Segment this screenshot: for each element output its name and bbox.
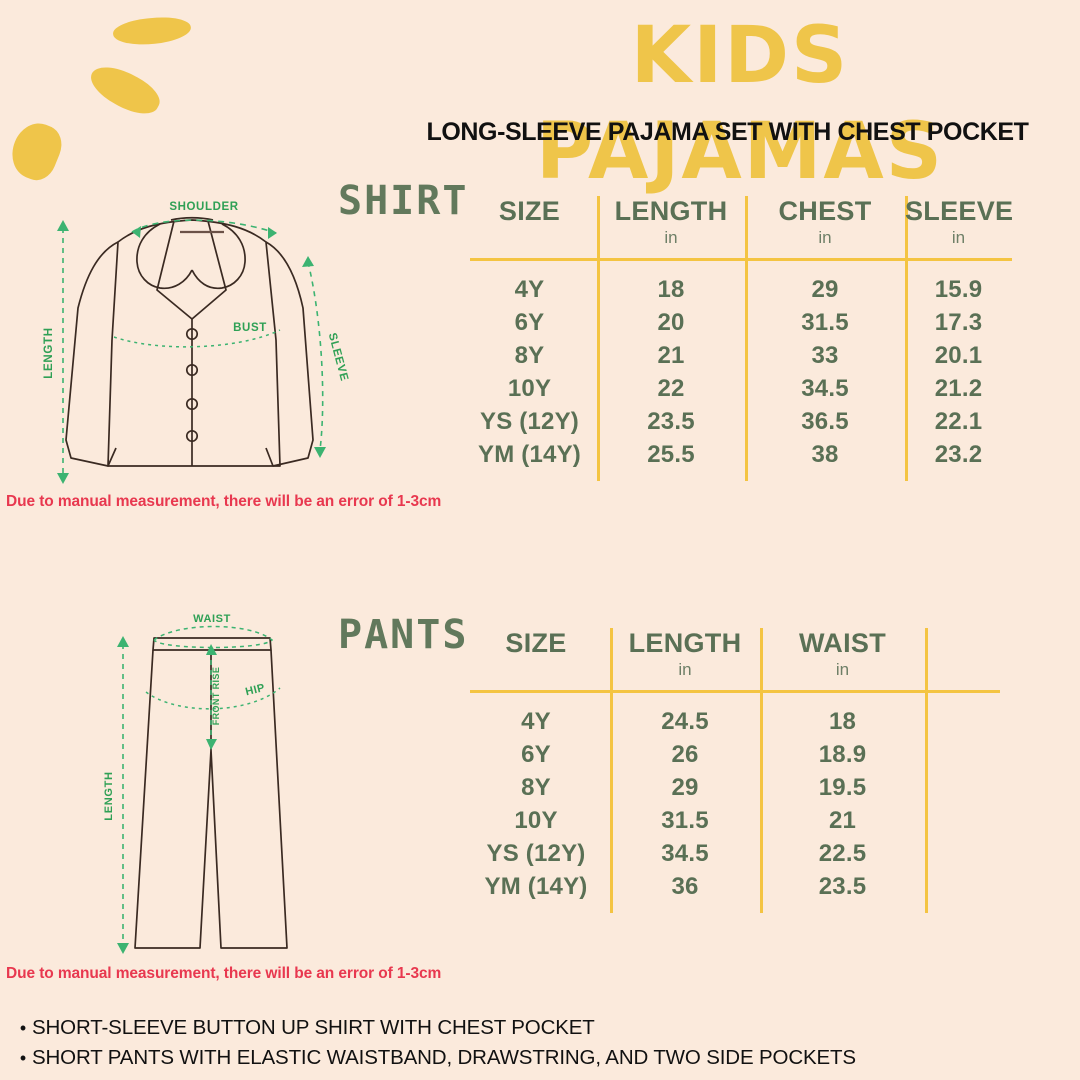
decorative-blob-icon — [84, 58, 165, 123]
table-row: 4Y 24.5 18 — [462, 706, 1012, 738]
shirt-col-header-chest: CHEST — [745, 196, 905, 226]
page-title: KIDS PAJAMAS — [420, 8, 1060, 200]
cell-length: 36 — [610, 871, 760, 903]
shirt-label-shoulder: SHOULDER — [169, 201, 238, 213]
table-row: 8Y 21 33 20.1 — [462, 340, 1012, 372]
cell-size: 10Y — [462, 373, 597, 405]
bullet-dot-icon: • — [14, 1043, 32, 1073]
shirt-col-header-sleeve: SLEEVE — [905, 196, 1012, 226]
cell-size: YM (14Y) — [462, 439, 597, 471]
table-row: 10Y 22 34.5 21.2 — [462, 373, 1012, 405]
pants-label-waist: WAIST — [193, 613, 231, 625]
cell-chest: 36.5 — [745, 406, 905, 438]
pants-col-unit-length: in — [610, 658, 760, 682]
cell-length: 22 — [597, 373, 745, 405]
cell-extra — [925, 871, 1012, 903]
table-row: YS (12Y) 34.5 22.5 — [462, 838, 1012, 870]
list-item: • SHORT PANTS WITH ELASTIC WAISTBAND, DR… — [14, 1043, 1014, 1073]
cell-length: 26 — [610, 739, 760, 771]
table-row: 8Y 29 19.5 — [462, 772, 1012, 804]
feature-list: • SHORT-SLEEVE BUTTON UP SHIRT WITH CHES… — [14, 1013, 1014, 1073]
list-item: • SHORT-SLEEVE BUTTON UP SHIRT WITH CHES… — [14, 1013, 1014, 1043]
pants-measurement-disclaimer: Due to manual measurement, there will be… — [6, 965, 441, 983]
cell-chest: 31.5 — [745, 307, 905, 339]
cell-extra — [925, 739, 1012, 771]
decorative-blob-icon — [4, 116, 68, 185]
cell-length: 34.5 — [610, 838, 760, 870]
cell-size: 6Y — [462, 739, 610, 771]
pants-table-header-row: SIZE LENGTH in WAIST in — [462, 628, 1012, 682]
shirt-col-unit-chest: in — [745, 226, 905, 250]
cell-length: 29 — [610, 772, 760, 804]
cell-size: YM (14Y) — [462, 871, 610, 903]
cell-length: 20 — [597, 307, 745, 339]
cell-chest: 33 — [745, 340, 905, 372]
pants-label-front-rise: FRONT RISE — [211, 667, 221, 726]
pants-col-header-waist: WAIST — [760, 628, 925, 658]
shirt-measurement-disclaimer: Due to manual measurement, there will be… — [6, 493, 441, 511]
cell-chest: 34.5 — [745, 373, 905, 405]
decorative-blob-icon — [112, 14, 192, 48]
cell-waist: 18 — [760, 706, 925, 738]
shirt-size-table: SIZE LENGTH in CHEST in SLEEVE in 4Y 18 … — [462, 196, 1012, 481]
cell-chest: 38 — [745, 439, 905, 471]
shirt-col-header-length: LENGTH — [597, 196, 745, 226]
cell-sleeve: 21.2 — [905, 373, 1012, 405]
pants-measurement-diagram: WAIST HIP FRONT RISE LENGTH — [78, 600, 378, 960]
cell-size: 8Y — [462, 340, 597, 372]
cell-size: YS (12Y) — [462, 838, 610, 870]
cell-length: 21 — [597, 340, 745, 372]
table-row: 6Y 26 18.9 — [462, 739, 1012, 771]
cell-waist: 18.9 — [760, 739, 925, 771]
cell-waist: 23.5 — [760, 871, 925, 903]
feature-text: SHORT-SLEEVE BUTTON UP SHIRT WITH CHEST … — [32, 1013, 595, 1043]
cell-length: 25.5 — [597, 439, 745, 471]
cell-size: 8Y — [462, 772, 610, 804]
cell-sleeve: 15.9 — [905, 274, 1012, 306]
table-row: YS (12Y) 23.5 36.5 22.1 — [462, 406, 1012, 438]
shirt-label-length: LENGTH — [43, 327, 55, 378]
pants-label-hip: HIP — [244, 682, 266, 698]
cell-size: 4Y — [462, 274, 597, 306]
cell-waist: 21 — [760, 805, 925, 837]
page-subtitle: LONG-SLEEVE PAJAMA SET WITH CHEST POCKET — [405, 118, 1050, 147]
cell-extra — [925, 838, 1012, 870]
cell-size: YS (12Y) — [462, 406, 597, 438]
cell-extra — [925, 772, 1012, 804]
shirt-measurement-diagram: SHOULDER BUST LENGTH SLEEVE — [8, 190, 368, 490]
cell-length: 23.5 — [597, 406, 745, 438]
pants-col-unit-waist: in — [760, 658, 925, 682]
cell-extra — [925, 706, 1012, 738]
cell-sleeve: 23.2 — [905, 439, 1012, 471]
cell-extra — [925, 805, 1012, 837]
cell-waist: 22.5 — [760, 838, 925, 870]
cell-length: 31.5 — [610, 805, 760, 837]
table-row: YM (14Y) 25.5 38 23.2 — [462, 439, 1012, 471]
table-row: 6Y 20 31.5 17.3 — [462, 307, 1012, 339]
cell-sleeve: 22.1 — [905, 406, 1012, 438]
shirt-table-header-row: SIZE LENGTH in CHEST in SLEEVE in — [462, 196, 1012, 250]
cell-chest: 29 — [745, 274, 905, 306]
feature-text: SHORT PANTS WITH ELASTIC WAISTBAND, DRAW… — [32, 1043, 856, 1073]
cell-length: 18 — [597, 274, 745, 306]
shirt-label-bust: BUST — [233, 322, 267, 334]
cell-size: 10Y — [462, 805, 610, 837]
pants-col-header-size: SIZE — [462, 628, 610, 658]
cell-sleeve: 20.1 — [905, 340, 1012, 372]
shirt-col-unit-length: in — [597, 226, 745, 250]
shirt-col-header-size: SIZE — [462, 196, 597, 226]
cell-size: 4Y — [462, 706, 610, 738]
pants-label-length: LENGTH — [103, 771, 115, 820]
shirt-label-sleeve: SLEEVE — [326, 332, 350, 383]
pants-col-header-length: LENGTH — [610, 628, 760, 658]
cell-size: 6Y — [462, 307, 597, 339]
table-row: 10Y 31.5 21 — [462, 805, 1012, 837]
shirt-col-unit-sleeve: in — [905, 226, 1012, 250]
pants-size-table: SIZE LENGTH in WAIST in 4Y 24.5 18 6Y — [462, 628, 1012, 913]
cell-sleeve: 17.3 — [905, 307, 1012, 339]
table-row: YM (14Y) 36 23.5 — [462, 871, 1012, 903]
bullet-dot-icon: • — [14, 1013, 32, 1043]
cell-waist: 19.5 — [760, 772, 925, 804]
cell-length: 24.5 — [610, 706, 760, 738]
table-row: 4Y 18 29 15.9 — [462, 274, 1012, 306]
size-chart-page: KIDS PAJAMAS LONG-SLEEVE PAJAMA SET WITH… — [0, 0, 1080, 1080]
